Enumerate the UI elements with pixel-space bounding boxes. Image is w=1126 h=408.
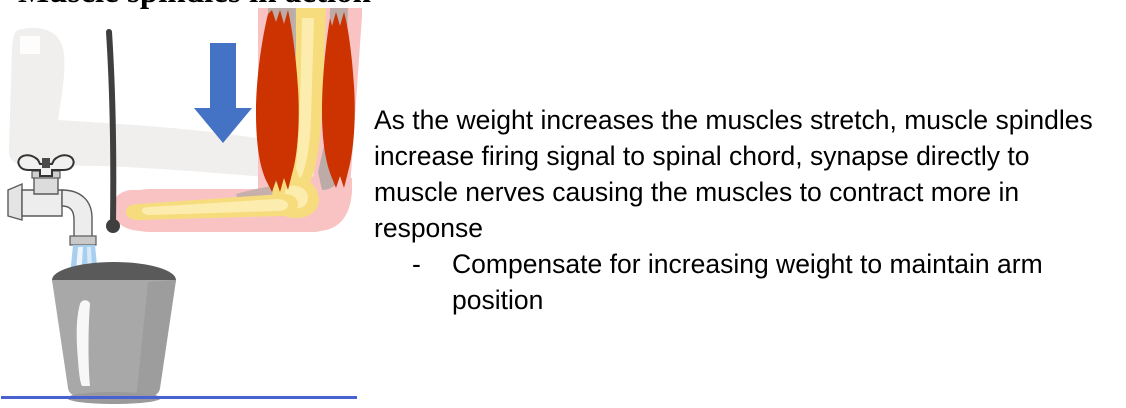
body-paragraph: As the weight increases the muscles stre… — [374, 102, 1109, 246]
bottom-accent-rule — [1, 396, 357, 399]
bullet-marker: - — [412, 246, 421, 282]
slide-canvas: Muscle spindles in action — [0, 0, 1126, 408]
body-text-block: As the weight increases the muscles stre… — [374, 102, 1109, 318]
illustration-arm-bucket — [0, 8, 362, 408]
bullet-text: Compensate for increasing weight to main… — [452, 249, 1043, 315]
list-item: - Compensate for increasing weight to ma… — [374, 246, 1109, 318]
downward-arrow-icon — [194, 43, 252, 143]
faucet — [8, 155, 96, 245]
bullet-list: - Compensate for increasing weight to ma… — [374, 246, 1109, 318]
